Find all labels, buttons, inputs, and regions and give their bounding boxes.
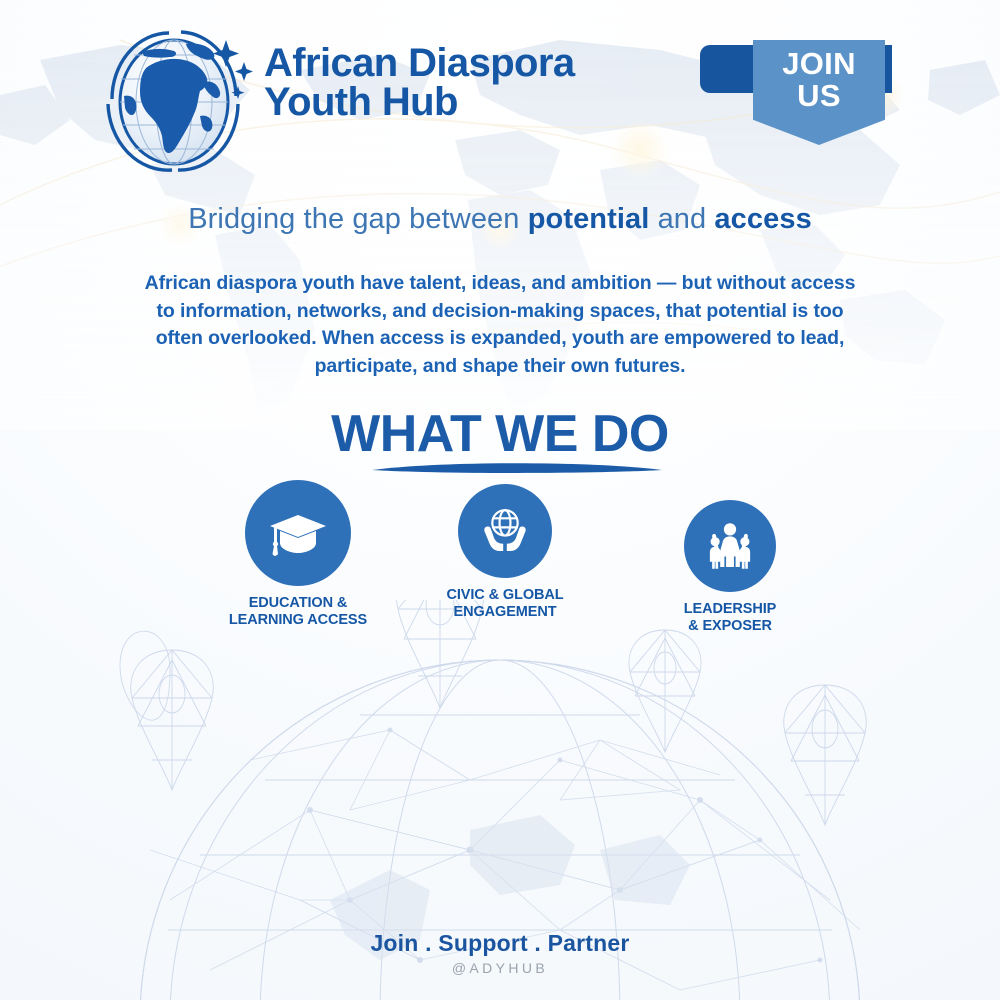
pillar-icon-circle <box>458 484 552 578</box>
brand-name-line1: African Diaspora <box>264 44 575 83</box>
pillar-icon-circle <box>245 480 351 586</box>
brand-name: African Diaspora Youth Hub <box>264 44 575 122</box>
tagline-part1: Bridging the gap between <box>188 203 527 235</box>
section-heading: WHAT WE DO <box>0 404 1000 464</box>
social-handle: @ADYHUB <box>0 960 1000 976</box>
pillar-leadership[interactable]: LEADERSHIP & EXPOSER <box>655 500 805 635</box>
badge-line-1: JOIN <box>782 48 856 80</box>
heading-underline-swoosh <box>372 459 662 475</box>
pillar-education[interactable]: EDUCATION & LEARNING ACCESS <box>198 480 398 629</box>
poster-canvas: African Diaspora Youth Hub JOIN US Bridg… <box>0 0 1000 1000</box>
badge-banner: JOIN US <box>753 40 885 145</box>
pillar-label: LEADERSHIP & EXPOSER <box>655 601 805 635</box>
people-group-icon <box>702 518 758 574</box>
pillar-label: EDUCATION & LEARNING ACCESS <box>198 595 398 629</box>
what-we-do-pillars: EDUCATION & LEARNING ACCESS CIVIC & GLOB… <box>0 480 1000 650</box>
tagline-strong-access: access <box>714 203 811 235</box>
pillar-label: CIVIC & GLOBAL ENGAGEMENT <box>430 587 580 621</box>
tagline-strong-potential: potential <box>528 203 650 235</box>
graduation-cap-icon <box>266 501 330 565</box>
tagline-part2: and <box>649 203 714 235</box>
footer-cta: Join . Support . Partner <box>0 930 1000 957</box>
badge-line-2: US <box>797 80 841 112</box>
tagline: Bridging the gap between potential and a… <box>0 203 1000 236</box>
pillar-civic[interactable]: CIVIC & GLOBAL ENGAGEMENT <box>430 484 580 621</box>
logo[interactable] <box>86 24 262 174</box>
brand-name-line2: Youth Hub <box>264 83 575 122</box>
globe-africa-icon <box>86 24 262 174</box>
intro-paragraph: African diaspora youth have talent, idea… <box>135 270 865 381</box>
pillar-icon-circle <box>684 500 776 592</box>
footer: Join . Support . Partner @ADYHUB <box>0 930 1000 976</box>
join-us-badge[interactable]: JOIN US <box>700 40 900 170</box>
hands-holding-globe-icon <box>476 502 534 560</box>
header: African Diaspora Youth Hub JOIN US <box>0 0 1000 185</box>
